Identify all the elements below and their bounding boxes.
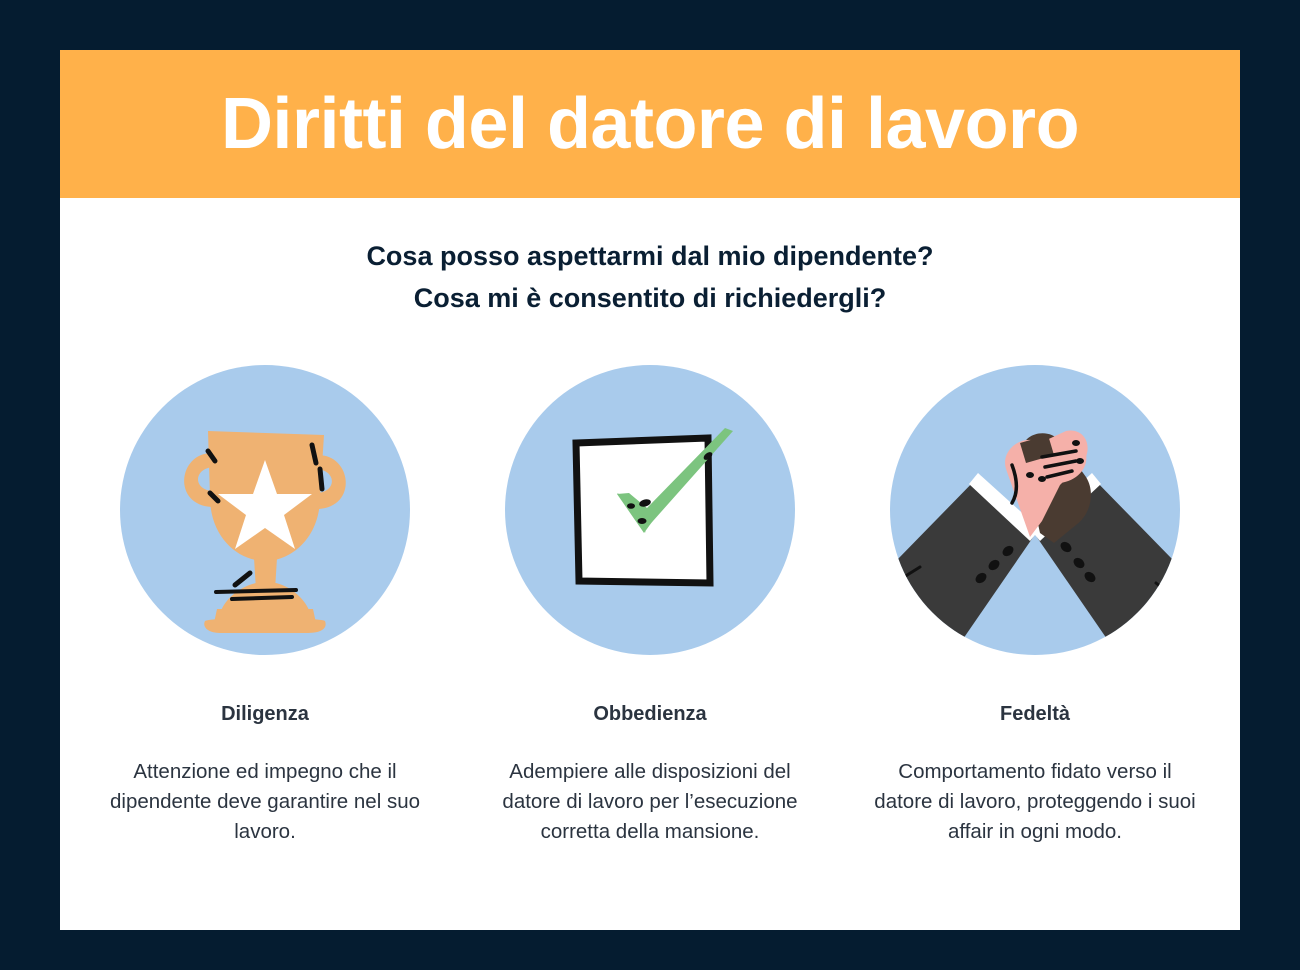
infographic-poster: Diritti del datore di lavoro Cosa posso … [0,0,1300,970]
columns-row: Diligenza Attenzione ed impegno che il d… [60,365,1240,847]
subtitle-block: Cosa posso aspettarmi dal mio dipendente… [60,235,1240,319]
column-body: Attenzione ed impegno che il dipendente … [100,757,430,847]
column-diligenza: Diligenza Attenzione ed impegno che il d… [95,365,435,847]
column-body: Comportamento fidato verso il datore di … [870,757,1200,847]
content-card: Diritti del datore di lavoro Cosa posso … [60,50,1240,930]
handshake-icon [890,365,1180,655]
column-obbedienza: Obbedienza Adempiere alle disposizioni d… [480,365,820,847]
column-fedelta: Fedeltà Comportamento fidato verso il da… [865,365,1205,847]
column-title: Obbedienza [593,703,706,726]
column-title: Diligenza [221,703,309,726]
subtitle-line-2: Cosa mi è consentito di richiedergli? [60,277,1240,319]
column-body: Adempiere alle disposizioni del datore d… [485,757,815,847]
column-title: Fedeltà [1000,703,1070,726]
subtitle-line-1: Cosa posso aspettarmi dal mio dipendente… [60,235,1240,277]
trophy-icon [120,365,410,655]
page-title: Diritti del datore di lavoro [221,88,1079,160]
title-banner: Diritti del datore di lavoro [60,50,1240,198]
checkbox-check-icon [505,365,795,655]
